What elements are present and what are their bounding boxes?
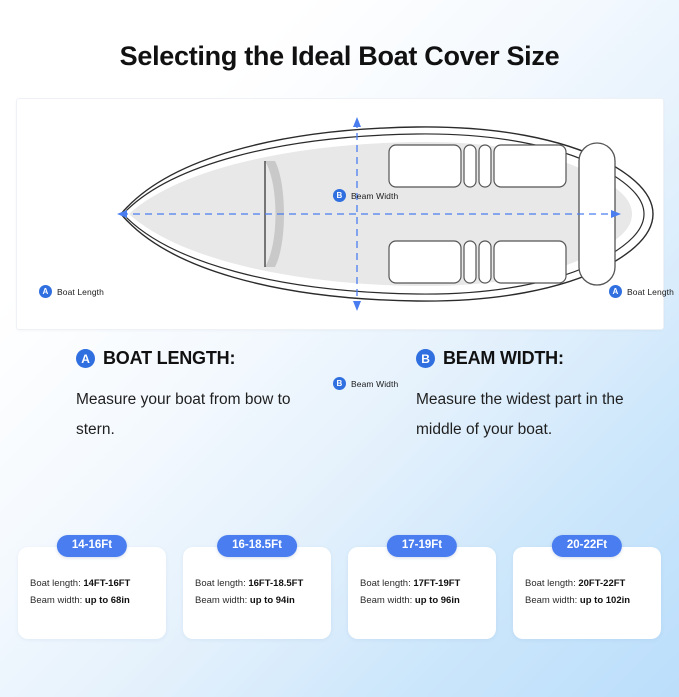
diagram-label-text: Boat Length: [57, 287, 104, 297]
size-card-badge: 14-16Ft: [57, 535, 127, 557]
explainer-heading: B BEAM WIDTH:: [416, 348, 679, 369]
size-card-details: Boat length: 17FT-19FT Beam width: up to…: [360, 576, 488, 609]
size-card-width-label: Beam width:: [195, 595, 247, 606]
size-card[interactable]: 14-16Ft Boat length: 14FT-16FT Beam widt…: [18, 547, 166, 639]
size-card-width-value: up to 94in: [250, 595, 295, 606]
explainer-body-text: Measure the widest part in the middle of…: [416, 385, 651, 445]
size-card-length-value: 20FT-22FT: [578, 578, 625, 589]
size-card-length-label: Boat length:: [360, 578, 411, 589]
explainer-section: A BOAT LENGTH: Measure your boat from bo…: [0, 348, 679, 445]
size-card-width-label: Beam width:: [360, 595, 412, 606]
explainer-heading: A BOAT LENGTH:: [76, 348, 340, 369]
diagram-label-boat-length-left: A Boat Length: [39, 285, 104, 298]
seat-lower-left: [389, 241, 461, 283]
page-title: Selecting the Ideal Boat Cover Size: [0, 18, 679, 72]
stern-pad: [579, 143, 615, 285]
diagram-label-boat-length-right: A Boat Length: [609, 285, 674, 298]
size-card-length-row: Boat length: 14FT-16FT: [30, 576, 158, 593]
seat-lower-divider-2: [479, 241, 491, 283]
diagram-label-beam-width-top: B Beam Width: [333, 189, 398, 202]
size-card-width-row: Beam width: up to 102in: [525, 593, 653, 610]
size-card-width-label: Beam width:: [525, 595, 577, 606]
explainer-heading-text: BEAM WIDTH:: [443, 348, 564, 369]
marker-a-icon: A: [609, 285, 622, 298]
boat-diagram-svg: [17, 99, 663, 329]
size-card-length-label: Boat length:: [195, 578, 246, 589]
beam-width-arrow-top: [353, 117, 361, 127]
seat-upper-left: [389, 145, 461, 187]
marker-a-icon: A: [39, 285, 52, 298]
seat-upper-divider-1: [464, 145, 476, 187]
size-card-width-label: Beam width:: [30, 595, 82, 606]
marker-b-icon: B: [416, 349, 435, 368]
explainer-heading-text: BOAT LENGTH:: [103, 348, 235, 369]
boat-diagram-panel: A Boat Length A Boat Length B Beam Width…: [16, 98, 664, 330]
beam-width-arrow-bottom: [353, 301, 361, 311]
size-card-badge: 17-19Ft: [387, 535, 457, 557]
size-card-badge: 16-18.5Ft: [217, 535, 297, 557]
seat-lower-divider-1: [464, 241, 476, 283]
size-card-details: Boat length: 20FT-22FT Beam width: up to…: [525, 576, 653, 609]
seat-upper-right: [494, 145, 566, 187]
diagram-label-text: Boat Length: [627, 287, 674, 297]
size-card-length-value: 17FT-19FT: [413, 578, 460, 589]
size-card-width-row: Beam width: up to 94in: [195, 593, 323, 610]
size-card-list: 14-16Ft Boat length: 14FT-16FT Beam widt…: [18, 547, 661, 639]
size-card[interactable]: 16-18.5Ft Boat length: 16FT-18.5FT Beam …: [183, 547, 331, 639]
size-card-length-row: Boat length: 20FT-22FT: [525, 576, 653, 593]
size-card[interactable]: 17-19Ft Boat length: 17FT-19FT Beam widt…: [348, 547, 496, 639]
size-card-length-row: Boat length: 17FT-19FT: [360, 576, 488, 593]
size-card-details: Boat length: 14FT-16FT Beam width: up to…: [30, 576, 158, 609]
size-card-length-value: 16FT-18.5FT: [248, 578, 303, 589]
size-card-width-value: up to 68in: [85, 595, 130, 606]
size-card-details: Boat length: 16FT-18.5FT Beam width: up …: [195, 576, 323, 609]
marker-a-icon: A: [76, 349, 95, 368]
size-card-length-row: Boat length: 16FT-18.5FT: [195, 576, 323, 593]
size-card-length-label: Boat length:: [30, 578, 81, 589]
size-card-width-value: up to 96in: [415, 595, 460, 606]
marker-b-icon: B: [333, 189, 346, 202]
size-card-width-value: up to 102in: [580, 595, 630, 606]
explainer-beam-width: B BEAM WIDTH: Measure the widest part in…: [340, 348, 679, 445]
boat-length-arrow-left: [117, 210, 127, 218]
size-card[interactable]: 20-22Ft Boat length: 20FT-22FT Beam widt…: [513, 547, 661, 639]
seat-upper-divider-2: [479, 145, 491, 187]
size-card-length-value: 14FT-16FT: [83, 578, 130, 589]
diagram-label-text: Beam Width: [351, 191, 398, 201]
size-card-badge: 20-22Ft: [552, 535, 622, 557]
explainer-boat-length: A BOAT LENGTH: Measure your boat from bo…: [0, 348, 340, 445]
seat-lower-right: [494, 241, 566, 283]
size-card-width-row: Beam width: up to 68in: [30, 593, 158, 610]
size-card-length-label: Boat length:: [525, 578, 576, 589]
explainer-body-text: Measure your boat from bow to stern.: [76, 385, 311, 445]
size-card-width-row: Beam width: up to 96in: [360, 593, 488, 610]
